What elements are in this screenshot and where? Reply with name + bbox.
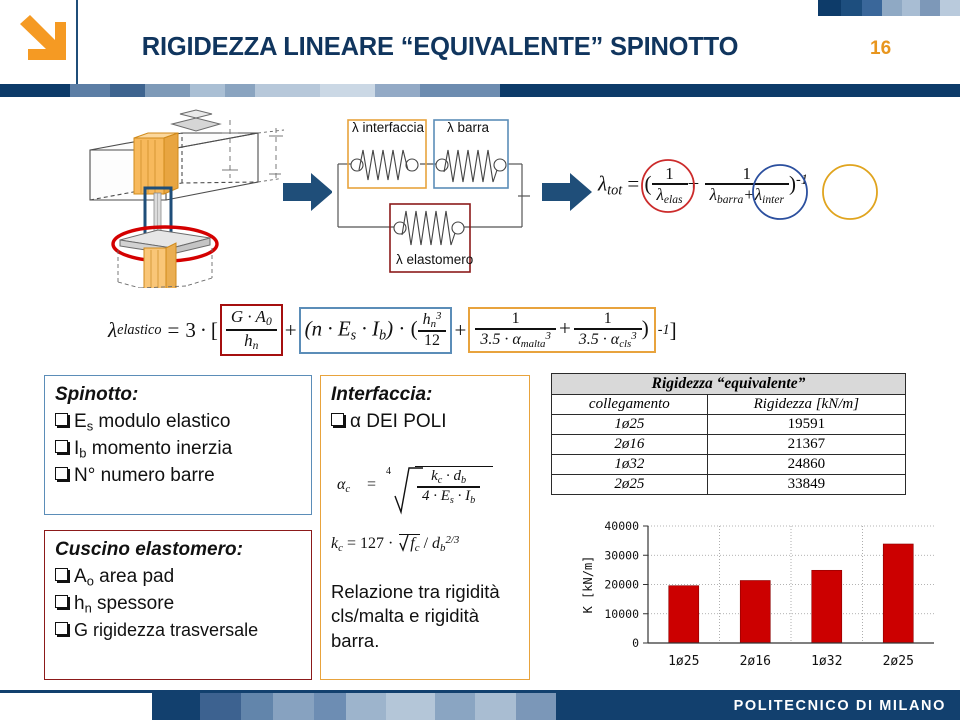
svg-text:2ø16: 2ø16 — [740, 654, 771, 669]
term2-head-mid: · I — [356, 316, 379, 340]
term2-head: n · E — [312, 316, 351, 340]
fraction-numerator-hn3: hn3 — [418, 310, 447, 332]
table-title: Rigidezza “equivalente” — [552, 374, 906, 395]
coefficient-3: 3 — [185, 318, 196, 343]
cell-collegamento: 1ø32 — [552, 455, 708, 475]
arrow-right-icon-1 — [281, 170, 335, 214]
svg-text:20000: 20000 — [604, 578, 639, 592]
header-divider — [76, 0, 78, 84]
item-subscript: o — [87, 574, 94, 589]
item-text: numero barre — [95, 465, 214, 486]
column-header-rigidezza: Rigidezza [kN/m] — [707, 395, 905, 415]
arrow-right-icon-2 — [540, 170, 594, 214]
checkbox-icon — [55, 568, 68, 581]
fraction-denominator: λelas — [652, 185, 688, 207]
slide-root: RIGIDEZZA LINEARE “EQUIVALENTE” SPINOTTO… — [0, 0, 960, 720]
fraction-1-over-35alpha-cls: 1 3.5 · αcls3 — [574, 310, 642, 351]
spring-label-elastomero: λ elastomero — [396, 252, 473, 267]
checkbox-icon — [55, 467, 68, 480]
sqrt-fc: fc — [399, 534, 419, 554]
kc-coefficient: 127 · — [360, 535, 393, 552]
page-title: RIGIDEZZA LINEARE “EQUIVALENTE” SPINOTTO — [90, 26, 790, 68]
dot-operator-1: · — [196, 318, 211, 343]
spinotto-title: Spinotto: — [55, 384, 301, 406]
paren-open: ( — [645, 171, 652, 195]
fraction-1-over-35alpha-malta: 1 3.5 · αmalta3 — [475, 310, 556, 351]
checkbox-icon — [55, 595, 68, 608]
item-symbol: G — [74, 620, 88, 640]
checkbox-icon — [331, 413, 344, 426]
term-G-A0-over-hn: G · A0 hn — [220, 304, 283, 356]
plus-sign-2: + — [285, 318, 297, 343]
fraction-GA0-hn: G · A0 hn — [226, 307, 277, 353]
item-subscript: n — [85, 601, 92, 616]
fraction-numerator: 1 — [652, 164, 688, 185]
table-column-header-row: collegamento Rigidezza [kN/m] — [552, 395, 906, 415]
cell-rigidezza: 24860 — [707, 455, 905, 475]
cell-collegamento: 2ø16 — [552, 435, 708, 455]
fraction-hn3-12: hn3 12 — [418, 310, 447, 351]
item-text: spessore — [92, 593, 174, 614]
fraction-denominator-2: λbarra+λinter — [705, 185, 789, 207]
header-decorative-bands-left — [0, 84, 500, 97]
slide-header: RIGIDEZZA LINEARE “EQUIVALENTE” SPINOTTO… — [0, 0, 960, 84]
equals-sign-4: = — [347, 535, 356, 552]
plus-sign-3: + — [454, 318, 466, 343]
item-symbol: h — [74, 593, 85, 614]
formula-alpha-c: αc = 4 kc · db 4 · Es · Ib — [331, 450, 519, 512]
interfaccia-title: Interfaccia: — [331, 384, 519, 406]
exponent-minus-one-2: -1 — [658, 322, 670, 339]
fraction-numerator-2: 1 — [705, 164, 789, 185]
lambda-tot-symbol: λ — [598, 171, 607, 195]
list-item: α DEI POLI — [331, 409, 519, 436]
list-item: Ib momento inerzia — [55, 436, 301, 463]
column-header-collegamento: collegamento — [552, 395, 708, 415]
equals-sign: = — [627, 171, 639, 195]
item-text: area pad — [94, 566, 174, 587]
fraction-denominator-hn: hn — [226, 331, 277, 353]
item-symbol: N° — [74, 465, 95, 486]
term-alpha-malta-cls: 1 3.5 · αmalta3 + 1 3.5 · αcls3 ) — [468, 307, 655, 354]
fraction-numerator-1a: 1 — [475, 310, 556, 330]
formula-kc: kc = 127 · fc / db2/3 — [331, 534, 519, 564]
bracket-close: ] — [670, 318, 677, 343]
table-row: 2ø25 33849 — [552, 475, 906, 495]
item-symbol: A — [74, 566, 87, 587]
fraction-numerator-1b: 1 — [574, 310, 642, 330]
paren-open-2: ( — [305, 316, 312, 340]
cell-collegamento: 1ø25 — [552, 415, 708, 435]
svg-text:K [kN/m]: K [kN/m] — [581, 556, 595, 614]
list-item: Es modulo elastico — [55, 409, 301, 436]
fraction-1-over-lambda-barra-plus-inter: 1 λbarra+λinter — [705, 164, 789, 207]
item-symbol: E — [74, 411, 87, 432]
fraction-denominator-12: 12 — [418, 332, 447, 351]
fraction-denominator-35alpha-cls: 3.5 · αcls3 — [574, 330, 642, 351]
item-text: momento inerzia — [86, 438, 232, 459]
interfaccia-note: Relazione tra rigidità cls/malta e rigid… — [331, 580, 519, 653]
alpha-c-symbol: αc — [337, 476, 350, 495]
svg-text:1ø25: 1ø25 — [668, 654, 699, 669]
exponent-minus-one: -1 — [796, 172, 808, 188]
list-item: N° numero barre — [55, 463, 301, 490]
checkbox-icon — [55, 622, 68, 635]
checkbox-icon — [55, 440, 68, 453]
item-text: rigidezza trasversale — [88, 620, 258, 640]
cell-collegamento: 2ø25 — [552, 475, 708, 495]
term-n-Es-Ib-hn3-12: (n · Es · Ib) · ( hn3 12 — [299, 307, 453, 354]
rigidezza-bar-chart: 0100002000030000400001ø252ø161ø322ø25K [… — [556, 512, 946, 684]
table-row: 2ø16 21367 — [552, 435, 906, 455]
slash: / — [424, 535, 428, 552]
fraction-numerator-GA0: G · A0 — [226, 307, 277, 331]
plus-sign-4: + — [556, 316, 574, 340]
table-row: 1ø32 24860 — [552, 455, 906, 475]
page-number: 16 — [870, 36, 910, 62]
kc-symbol: kc — [331, 535, 343, 552]
bracket-open: [ — [211, 318, 218, 343]
cell-rigidezza: 19591 — [707, 415, 905, 435]
equals-sign-3: = — [367, 476, 376, 494]
lambda-elastico-subscript: elastico — [117, 322, 161, 339]
cell-rigidezza: 33849 — [707, 475, 905, 495]
spring-network-diagram: λ interfaccia λ barra λ elastomero — [332, 112, 548, 280]
kc-tail: db2/3 — [432, 535, 459, 552]
equals-sign-2: = — [161, 318, 185, 343]
checkbox-icon — [55, 413, 68, 426]
svg-text:30000: 30000 — [604, 548, 639, 562]
list-item: G rigidezza trasversale — [55, 618, 301, 645]
cuscino-title: Cuscino elastomero: — [55, 539, 301, 561]
svg-text:40000: 40000 — [604, 519, 639, 533]
header-decorative-bands-right — [818, 0, 960, 16]
dot-paren-open: · ( — [393, 316, 418, 340]
formula-lambda-elastico: λelastico = 3 · [ G · A0 hn + (n · Es · … — [108, 288, 908, 362]
svg-text:1ø32: 1ø32 — [811, 654, 842, 669]
item-text: modulo elastico — [93, 411, 230, 432]
fraction-kc-db-over-4EsIb: kc · db 4 · Es · Ib — [417, 468, 480, 507]
svg-text:0: 0 — [632, 636, 639, 650]
politecnico-logo-text: POLITECNICO DI MILANO — [734, 693, 946, 720]
paren-close: ) — [789, 171, 796, 195]
list-item: Ao area pad — [55, 564, 301, 591]
lambda-elastico-symbol: λ — [108, 318, 117, 343]
table-header-row: Rigidezza “equivalente” — [552, 374, 906, 395]
fraction-denominator-35alpha-malta: 3.5 · αmalta3 — [475, 330, 556, 351]
spring-label-interfaccia: λ interfaccia — [352, 120, 424, 135]
rigidezza-equivalente-table: Rigidezza “equivalente” collegamento Rig… — [551, 373, 906, 495]
fraction-denominator-4EsIb: 4 · Es · Ib — [417, 488, 480, 507]
list-item: hn spessore — [55, 591, 301, 618]
svg-text:2ø25: 2ø25 — [883, 654, 914, 669]
info-box-cuscino-elastomero: Cuscino elastomero: Ao area pad hn spess… — [44, 530, 312, 680]
fraction-numerator-kcdb: kc · db — [417, 468, 480, 488]
spring-label-barra: λ barra — [447, 120, 489, 135]
svg-text:10000: 10000 — [604, 607, 639, 621]
plus-sign-1: + — [688, 171, 700, 195]
item-text: α DEI POLI — [350, 411, 447, 432]
fraction-1-over-lambda-elas: 1 λelas — [652, 164, 688, 207]
lambda-tot-subscript: tot — [607, 182, 622, 198]
table-row: 1ø25 19591 — [552, 415, 906, 435]
info-box-interfaccia: Interfaccia: α DEI POLI αc = 4 kc · db 4… — [320, 375, 530, 680]
orange-down-right-arrow-icon — [8, 10, 70, 72]
info-box-spinotto: Spinotto: Es modulo elastico Ib momento … — [44, 375, 312, 515]
cell-rigidezza: 21367 — [707, 435, 905, 455]
paren-close-3: ) — [642, 316, 649, 340]
root-index-4: 4 — [386, 466, 391, 477]
formula-lambda-tot: λtot = ( 1 λelas + 1 λbarra+λinter )-1 — [598, 140, 953, 228]
